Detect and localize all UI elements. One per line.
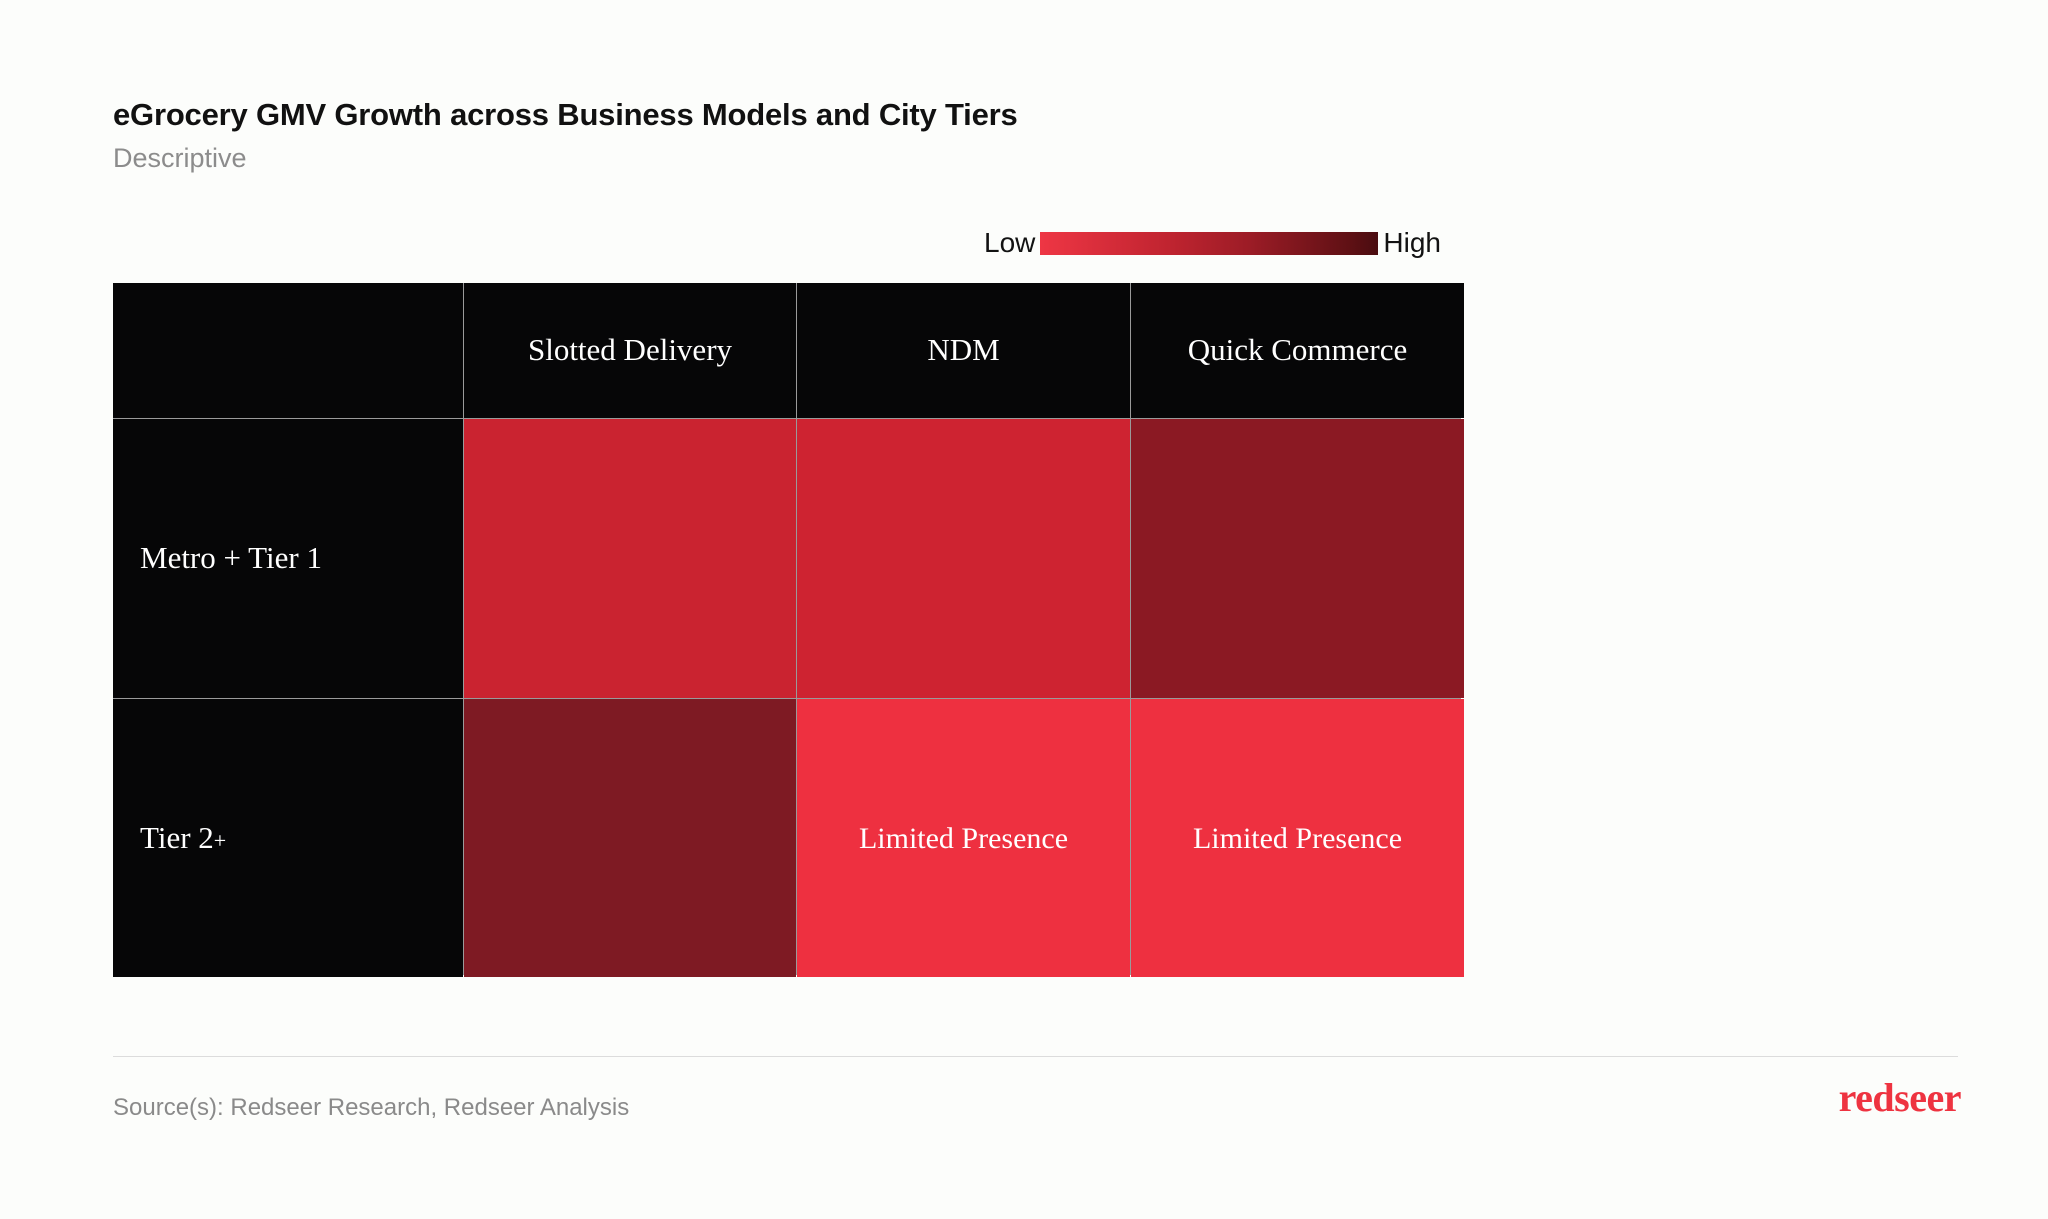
heatmap-cell-metro-quick-commerce[interactable] xyxy=(1131,419,1464,698)
heatmap-corner-cell xyxy=(113,283,463,418)
heatmap-grid: Slotted Delivery NDM Quick Commerce Metr… xyxy=(113,283,1461,975)
heatmap-cell-label: Limited Presence xyxy=(859,822,1068,855)
heatmap-cell-tier2-ndm[interactable]: Limited Presence xyxy=(797,699,1130,977)
page-header: eGrocery GMV Growth across Business Mode… xyxy=(113,96,1018,176)
heatmap-cell-metro-slotted-delivery[interactable] xyxy=(464,419,796,698)
footer-divider xyxy=(113,1056,1958,1057)
heatmap-cell-label: Limited Presence xyxy=(1193,822,1402,855)
page-title: eGrocery GMV Growth across Business Mode… xyxy=(113,96,1018,135)
legend-gradient-bar xyxy=(1040,232,1378,255)
color-scale-legend: Low High xyxy=(984,226,1441,260)
heatmap-cell-tier2-quick-commerce[interactable]: Limited Presence xyxy=(1131,699,1464,977)
source-note: Source(s): Redseer Research, Redseer Ana… xyxy=(113,1094,629,1122)
heatmap-cell-tier2-slotted-delivery[interactable] xyxy=(464,699,796,977)
redseer-logo: redseer xyxy=(1839,1078,1961,1118)
page-subtitle: Descriptive xyxy=(113,141,1018,176)
row-header-tier2plus: Tier 2+ xyxy=(113,699,463,977)
legend-high-label: High xyxy=(1383,229,1441,257)
row-header-metro-tier1: Metro + Tier 1 xyxy=(113,419,463,698)
column-header-slotted-delivery: Slotted Delivery xyxy=(464,283,796,418)
column-header-quick-commerce: Quick Commerce xyxy=(1131,283,1464,418)
column-header-label: Slotted Delivery xyxy=(528,333,732,367)
row-header-label: Metro + Tier 1 xyxy=(140,541,322,575)
heatmap-cell-metro-ndm[interactable] xyxy=(797,419,1130,698)
row-header-label: Tier 2+ xyxy=(140,821,226,855)
legend-low-label: Low xyxy=(984,229,1035,257)
column-header-label: NDM xyxy=(927,333,999,367)
column-header-ndm: NDM xyxy=(797,283,1130,418)
column-header-label: Quick Commerce xyxy=(1188,333,1408,367)
